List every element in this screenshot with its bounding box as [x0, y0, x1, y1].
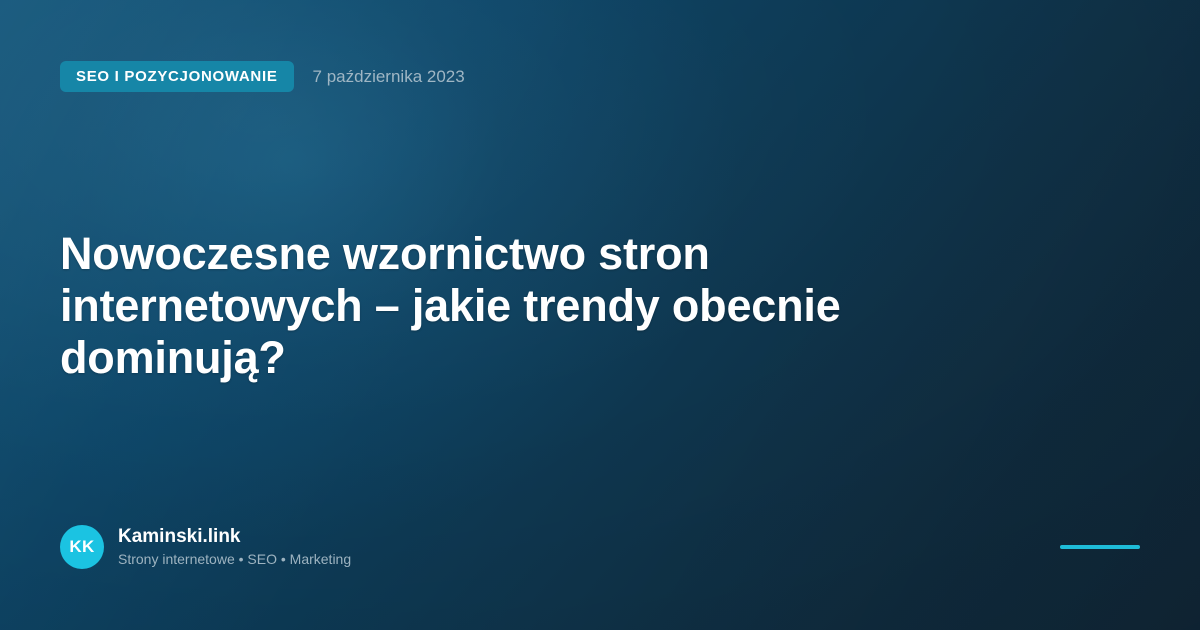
brand-name: Kaminski.link [118, 526, 351, 548]
brand-block: KK Kaminski.link Strony internetowe • SE… [60, 525, 351, 569]
og-card: SEO I POZYCJONOWANIE 7 października 2023… [0, 0, 1200, 630]
brand-tagline: Strony internetowe • SEO • Marketing [118, 551, 351, 568]
brand-text: Kaminski.link Strony internetowe • SEO •… [118, 526, 351, 568]
post-date: 7 października 2023 [313, 68, 465, 85]
page-title: Nowoczesne wzornictwo stron internetowyc… [60, 228, 860, 384]
card-content: SEO I POZYCJONOWANIE 7 października 2023… [0, 0, 1200, 630]
accent-rule [1060, 545, 1140, 549]
category-badge[interactable]: SEO I POZYCJONOWANIE [60, 61, 294, 92]
avatar: KK [60, 525, 104, 569]
meta-row: SEO I POZYCJONOWANIE 7 października 2023 [60, 61, 465, 92]
